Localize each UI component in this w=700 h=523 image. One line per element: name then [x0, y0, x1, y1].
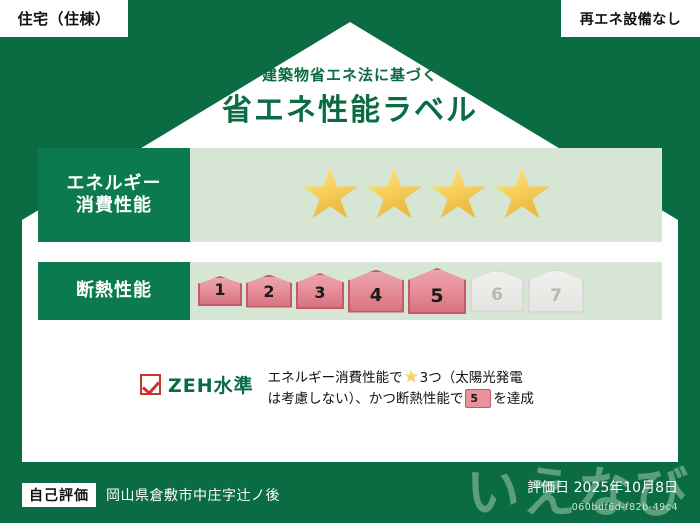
zeh-desc-star-count: 3つ（太陽光発電 — [420, 370, 523, 386]
insulation-grade-4: 4 — [348, 270, 404, 313]
zeh-standard-section: ZEH水準 エネルギー消費性能で3つ（太陽光発電 は考慮しない）、かつ断熱性能で… — [140, 368, 534, 410]
energy-consumption-label: エネルギー 消費性能 — [38, 148, 190, 242]
insulation-grade-value: 4 — [370, 285, 383, 311]
insulation-label-text: 断熱性能 — [76, 280, 152, 303]
energy-star-4 — [493, 167, 551, 223]
insulation-grade-value: 5 — [430, 285, 443, 312]
energy-label-line2: 消費性能 — [76, 195, 152, 218]
insulation-grade-value: 6 — [491, 285, 503, 310]
energy-performance-label: 住宅（住棟） 再エネ設備なし 建築物省エネ法に基づく 省エネ性能ラベル エネルギ… — [0, 0, 700, 523]
insulation-grade-1: 1 — [198, 276, 242, 306]
evaluation-date: 評価日 2025年10月8日 — [527, 477, 678, 497]
insulation-grade-3: 3 — [296, 273, 344, 309]
zeh-checkbox-group: ZEH水準 — [140, 368, 254, 398]
zeh-description: エネルギー消費性能で3つ（太陽光発電 は考慮しない）、かつ断熱性能で5を達成 — [268, 368, 534, 410]
page-title: 省エネ性能ラベル — [0, 85, 700, 129]
self-evaluation-badge: 自己評価 — [22, 483, 96, 507]
self-evaluation-group: 自己評価 岡山県倉敷市中庄字辻ノ後 — [22, 483, 280, 507]
zeh-checkbox[interactable] — [140, 374, 161, 395]
zeh-desc-part2: は考慮しない）、かつ断熱性能で — [268, 391, 464, 407]
inline-grade-badge: 5 — [465, 389, 491, 408]
energy-label-line1: エネルギー — [67, 173, 162, 196]
building-type-tab: 住宅（住棟） — [0, 0, 128, 37]
insulation-grade-value: 2 — [263, 282, 274, 306]
evaluation-id: 060bdf6d-f82b-49c4 — [572, 502, 678, 513]
insulation-grade-5: 5 — [408, 268, 466, 314]
insulation-grade-2: 2 — [246, 275, 292, 308]
renewable-equipment-tab: 再エネ設備なし — [561, 0, 700, 37]
insulation-grade-7: 7 — [528, 269, 584, 313]
insulation-grade-value: 3 — [314, 283, 325, 307]
label-subtitle: 建築物省エネ法に基づく — [0, 64, 700, 85]
insulation-grade-value: 7 — [550, 286, 562, 311]
zeh-label: ZEH水準 — [168, 371, 254, 398]
property-address: 岡山県倉敷市中庄字辻ノ後 — [106, 485, 280, 505]
zeh-desc-part3: を達成 — [493, 391, 534, 407]
energy-star-1 — [301, 167, 359, 223]
insulation-grade-value: 1 — [214, 280, 225, 304]
energy-star-2 — [365, 167, 423, 223]
insulation-performance-label: 断熱性能 — [38, 262, 190, 320]
insulation-grades-container: 1234567 — [190, 262, 662, 320]
insulation-grade-6: 6 — [470, 270, 524, 312]
label-footer: いえなび 自己評価 岡山県倉敷市中庄字辻ノ後 評価日 2025年10月8日 06… — [0, 465, 700, 523]
insulation-performance-row: 断熱性能 1234567 — [38, 262, 662, 320]
energy-consumption-row: エネルギー 消費性能 — [38, 148, 662, 242]
energy-stars-container — [190, 148, 662, 242]
zeh-desc-part1: エネルギー消費性能で — [268, 370, 403, 386]
inline-star-icon — [404, 369, 419, 384]
energy-star-3 — [429, 167, 487, 223]
